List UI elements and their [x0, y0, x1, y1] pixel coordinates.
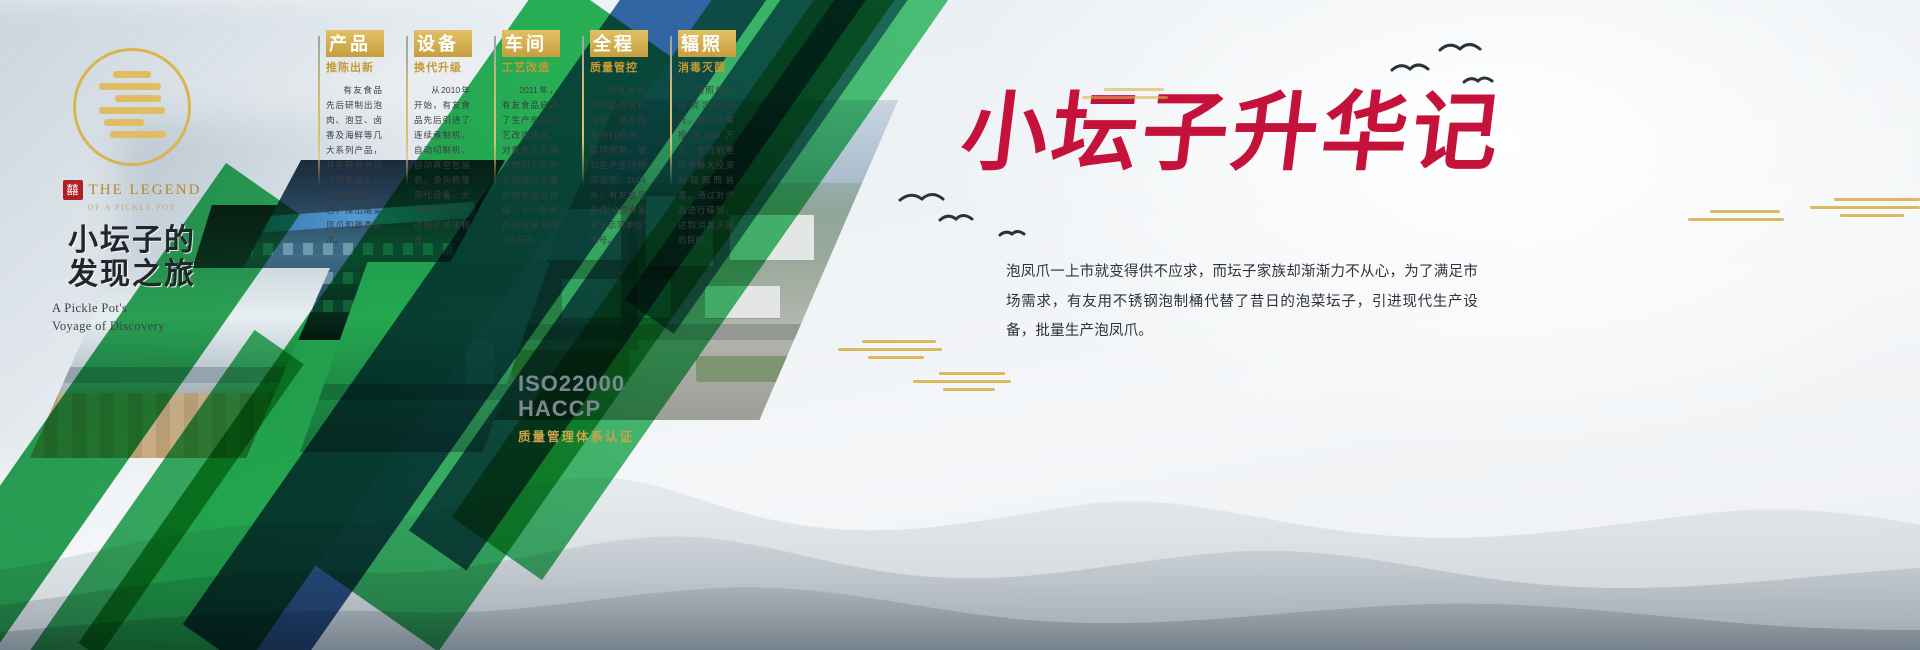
column-tab-subtitle: 推陈出新: [326, 59, 384, 75]
column-tab-title: 车间: [502, 30, 560, 57]
brand-cn-title-line2: 发现之旅: [42, 258, 222, 292]
info-column-irradiation: 辐照 消毒灭菌 辐照单元投资3500万元，其中环保投资550万元，是目前重庆市最…: [670, 30, 745, 248]
column-body-text: 有友食品对产品的理化指标、感官指标进行检测，留样观察，做到生产全过程可追溯。20…: [590, 83, 646, 248]
column-body-text: 辐照单元投资3500万元，其中环保投资550万元，是目前重庆市最大投资的辐照照装…: [678, 83, 734, 248]
column-tab-subtitle: 换代升级: [414, 59, 472, 75]
legend-title: THE LEGEND: [89, 182, 202, 199]
brand-en-title-line1: A Pickle Pot's: [52, 299, 222, 317]
column-tab-title: 产品: [326, 30, 384, 57]
column-rule: [582, 36, 584, 186]
column-tab-subtitle: 消毒灭菌: [678, 59, 736, 75]
pickle-pot-seal-icon: [73, 48, 191, 166]
column-tab-title: 辐照: [678, 30, 736, 57]
brand-story-banner: THE LEGEND OF A PICKLE POT 小坛子的 发现之旅 A P…: [0, 0, 1920, 650]
column-head: 产品 推陈出新: [326, 30, 384, 75]
column-body-text: 2011年，有友食品启动了生产车间工艺改造项目，对重庆江北基地的四个生产车间进行…: [502, 83, 558, 248]
column-rule: [406, 36, 408, 186]
column-head: 辐照 消毒灭菌: [678, 30, 736, 75]
iso-certification-block: ISO22000 HACCP 质量管理体系认证: [518, 372, 634, 445]
column-tab-title: 设备: [414, 30, 472, 57]
column-rule: [318, 36, 320, 186]
column-head: 车间 工艺改造: [502, 30, 560, 75]
flying-birds-decoration: [880, 30, 1500, 260]
column-head: 全程 质量管控: [590, 30, 648, 75]
gold-cloud-motif-right: [1800, 198, 1920, 222]
red-seal-icon: [63, 180, 83, 200]
gold-cloud-motif-lower-left: [832, 340, 952, 364]
gold-cloud-motif-right-2: [1680, 210, 1790, 226]
iso-standard-line1: ISO22000: [518, 372, 634, 397]
column-body-text: 有友食品先后研制出泡肉、泡豆、卤香及海鲜等几大系列产品，并在原有泡凤爪的基础上，…: [326, 83, 382, 248]
column-rule: [670, 36, 672, 186]
legend-wordmark: THE LEGEND: [42, 180, 222, 200]
brand-logo-block: THE LEGEND OF A PICKLE POT 小坛子的 发现之旅 A P…: [42, 48, 222, 335]
column-tab-title: 全程: [590, 30, 648, 57]
gold-cloud-motif-top: [1078, 88, 1188, 104]
brand-cn-title-line1: 小坛子的: [42, 224, 222, 258]
iso-standard-line3: 质量管理体系认证: [518, 426, 634, 445]
info-column-equipment: 设备 换代升级 从2010年开始，有友食品先后引进了连续煮制机、自动切制机、自动…: [406, 30, 481, 248]
legend-subtitle: OF A PICKLE POT: [42, 203, 222, 212]
column-head: 设备 换代升级: [414, 30, 472, 75]
brand-cn-title: 小坛子的 发现之旅: [42, 224, 222, 291]
info-column-product: 产品 推陈出新 有友食品先后研制出泡肉、泡豆、卤香及海鲜等几大系列产品，并在原有…: [318, 30, 393, 248]
info-column-quality: 全程 质量管控 有友食品对产品的理化指标、感官指标进行检测，留样观察，做到生产全…: [582, 30, 657, 248]
info-column-workshop: 车间 工艺改造 2011年，有友食品启动了生产车间工艺改造项目，对重庆江北基地的…: [494, 30, 569, 248]
gold-cloud-motif-lower-left-2: [905, 372, 1025, 396]
story-paragraph: 泡凤爪一上市就变得供不应求，而坛子家族却渐渐力不从心，为了满足市场需求，有友用不…: [1006, 258, 1478, 347]
column-tab-subtitle: 质量管控: [590, 59, 648, 75]
column-rule: [494, 36, 496, 186]
brand-en-title-line2: Voyage of Discovery: [52, 317, 222, 335]
column-tab-subtitle: 工艺改造: [502, 59, 560, 75]
column-body-text: 从2010年开始，有友食品先后引进了连续煮制机、自动切制机、自动真空包装机、多头…: [414, 83, 470, 248]
info-columns: 产品 推陈出新 有友食品先后研制出泡肉、泡豆、卤香及海鲜等几大系列产品，并在原有…: [258, 30, 745, 248]
brand-en-title: A Pickle Pot's Voyage of Discovery: [42, 299, 222, 335]
iso-standard-line2: HACCP: [518, 397, 634, 422]
